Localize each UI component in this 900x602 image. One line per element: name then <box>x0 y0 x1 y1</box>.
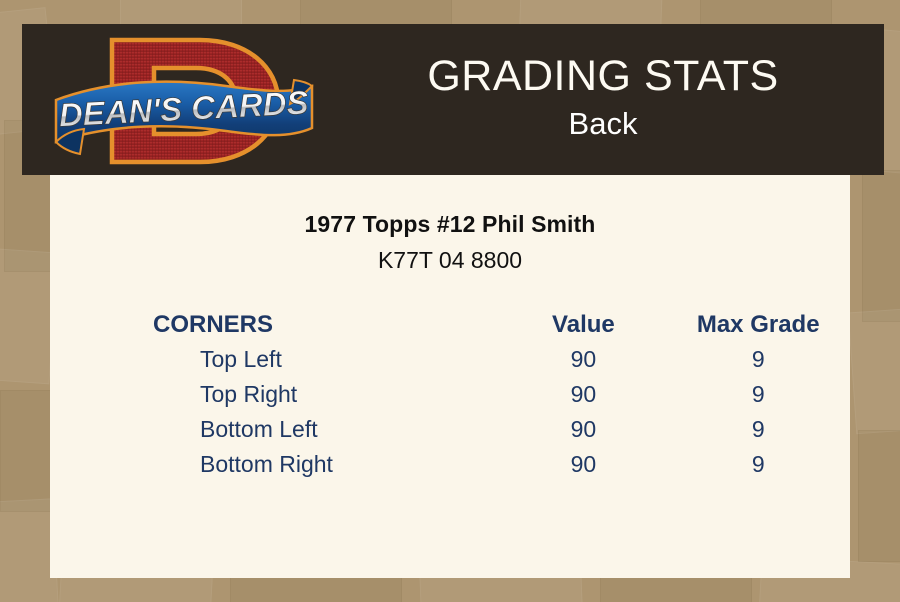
row-max-grade: 9 <box>666 377 850 412</box>
page-title: GRADING STATS <box>427 54 778 99</box>
table-header-row: CORNERS Value Max Grade <box>50 307 850 342</box>
grading-stats-table: CORNERS Value Max Grade Top Left 90 9 To… <box>50 307 850 482</box>
row-label: Bottom Left <box>50 412 500 447</box>
card-name: 1977 Topps #12 Phil Smith <box>50 175 850 238</box>
table-body: Top Left 90 9 Top Right 90 9 Bottom Left… <box>50 342 850 482</box>
page-subtitle: Back <box>569 103 638 145</box>
column-header-value: Value <box>500 307 666 342</box>
row-label: Top Left <box>50 342 500 377</box>
row-max-grade: 9 <box>666 412 850 447</box>
column-header-max-grade: Max Grade <box>666 307 850 342</box>
header-band: DEAN'S CARDS GRADING STATS Back <box>22 24 884 175</box>
table-row: Top Left 90 9 <box>50 342 850 377</box>
row-label: Top Right <box>50 377 500 412</box>
row-max-grade: 9 <box>666 447 850 482</box>
content-panel: 1977 Topps #12 Phil Smith K77T 04 8800 C… <box>50 175 850 578</box>
deans-cards-logo[interactable]: DEAN'S CARDS <box>50 28 318 174</box>
row-max-grade: 9 <box>666 342 850 377</box>
row-value: 90 <box>500 447 666 482</box>
page-root: DEAN'S CARDS GRADING STATS Back 1977 Top… <box>0 0 900 602</box>
table-row: Bottom Left 90 9 <box>50 412 850 447</box>
card-code: K77T 04 8800 <box>50 238 850 274</box>
table-row: Top Right 90 9 <box>50 377 850 412</box>
row-value: 90 <box>500 412 666 447</box>
row-label: Bottom Right <box>50 447 500 482</box>
row-value: 90 <box>500 342 666 377</box>
table-head: CORNERS Value Max Grade <box>50 307 850 342</box>
row-value: 90 <box>500 377 666 412</box>
header-title-block: GRADING STATS Back <box>322 24 884 175</box>
table-row: Bottom Right 90 9 <box>50 447 850 482</box>
column-header-section: CORNERS <box>50 307 500 342</box>
